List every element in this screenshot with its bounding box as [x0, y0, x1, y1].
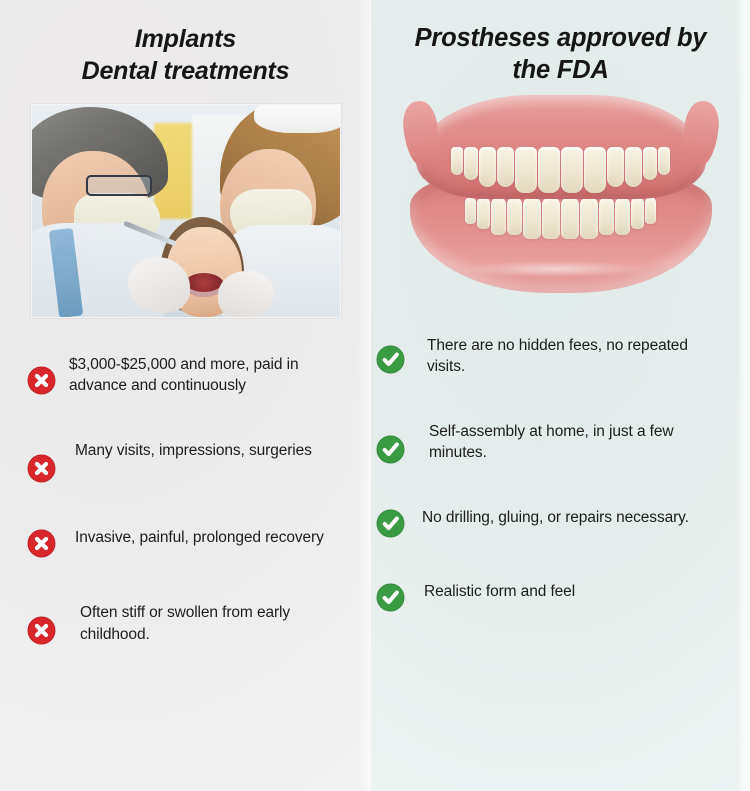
tooth — [599, 197, 614, 235]
right-title-line-2: the FDA — [399, 54, 722, 86]
check-circle-icon — [376, 509, 405, 538]
denture-highlight — [460, 261, 650, 277]
list-item: Realistic form and feel — [376, 581, 750, 612]
tooth — [523, 197, 541, 239]
denture-lower-teeth — [400, 197, 722, 239]
tooth — [507, 197, 522, 235]
tooth — [465, 197, 476, 224]
right-benefit-list: There are no hidden fees, no repeated vi… — [371, 335, 750, 612]
list-item: Self-assembly at home, in just a few min… — [376, 421, 750, 464]
tooth — [631, 197, 644, 229]
right-comparison-panel: Prostheses approved by the FDA — [371, 0, 750, 791]
tooth — [561, 147, 583, 193]
tooth — [491, 197, 506, 235]
photo-soft-overlay — [32, 105, 340, 317]
left-media-wrap — [0, 104, 371, 318]
tooth — [658, 147, 670, 175]
list-item-label: Self-assembly at home, in just a few min… — [418, 421, 729, 464]
list-item: $3,000-$25,000 and more, paid in advance… — [27, 354, 371, 397]
list-item-label: Often stiff or swollen from early childh… — [69, 602, 360, 645]
cross-circle-icon — [27, 616, 56, 645]
list-item: Invasive, painful, prolonged recovery — [27, 527, 371, 558]
list-item: No drilling, gluing, or repairs necessar… — [376, 507, 750, 538]
cross-circle-icon — [27, 454, 56, 483]
tooth — [538, 147, 560, 193]
check-circle-icon — [376, 345, 405, 374]
denture-upper-teeth — [400, 147, 722, 193]
cross-circle-icon — [27, 529, 56, 558]
tooth — [561, 197, 579, 239]
list-item-label: Invasive, painful, prolonged recovery — [69, 527, 324, 548]
check-circle-icon — [376, 435, 405, 464]
list-item: There are no hidden fees, no repeated vi… — [376, 335, 750, 378]
tooth — [515, 147, 537, 193]
dental-clinic-photo — [31, 104, 341, 318]
tooth — [451, 147, 463, 175]
cross-circle-icon — [27, 366, 56, 395]
tooth — [580, 197, 598, 239]
tooth — [477, 197, 490, 229]
tooth — [497, 147, 514, 187]
check-circle-icon — [376, 583, 405, 612]
full-denture-photo — [400, 89, 722, 297]
tooth — [607, 147, 624, 187]
list-item-label: Many visits, impressions, surgeries — [69, 440, 312, 461]
left-panel-title: Implants Dental treatments — [0, 0, 371, 88]
list-item-label: There are no hidden fees, no repeated vi… — [418, 335, 727, 378]
tooth — [625, 147, 642, 187]
right-media-wrap — [371, 89, 750, 297]
tooth — [645, 197, 656, 224]
list-item-label: $3,000-$25,000 and more, paid in advance… — [69, 354, 349, 397]
right-panel-title: Prostheses approved by the FDA — [371, 0, 750, 87]
tooth — [542, 197, 560, 239]
left-drawback-list: $3,000-$25,000 and more, paid in advance… — [0, 354, 371, 646]
list-item: Many visits, impressions, surgeries — [27, 440, 371, 483]
tooth — [479, 147, 496, 187]
right-title-line-1: Prostheses approved by — [399, 22, 722, 54]
tooth — [643, 147, 657, 180]
left-comparison-panel: Implants Dental treatments — [0, 0, 371, 791]
list-item: Often stiff or swollen from early childh… — [27, 602, 371, 645]
comparison-infographic: Implants Dental treatments — [0, 0, 750, 791]
list-item-label: Realistic form and feel — [418, 581, 575, 602]
left-title-line-2: Dental treatments — [28, 56, 343, 88]
tooth — [584, 147, 606, 193]
list-item-label: No drilling, gluing, or repairs necessar… — [418, 507, 689, 528]
tooth — [615, 197, 630, 235]
tooth — [464, 147, 478, 180]
left-title-line-1: Implants — [28, 24, 343, 56]
